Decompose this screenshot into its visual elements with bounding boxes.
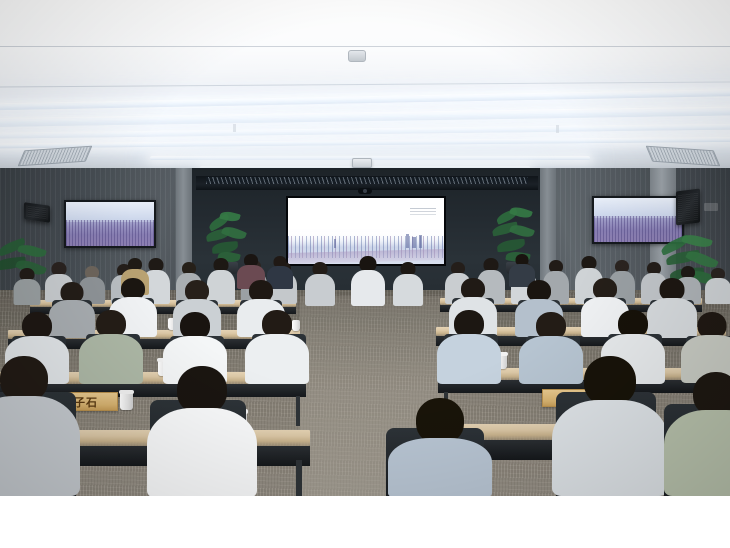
- attendee: [14, 268, 40, 304]
- desk-leg: [296, 460, 302, 496]
- conference-room-photo: 子子石 张建华: [0, 0, 730, 496]
- ceiling: [0, 0, 730, 176]
- conference-camera-icon: [358, 188, 372, 194]
- smoke-detector-icon: [348, 50, 366, 62]
- ceiling-hanger: [556, 125, 559, 133]
- skyline-tower: [419, 235, 422, 248]
- paper-cup: [120, 392, 133, 410]
- desk-leg: [296, 396, 300, 426]
- monitor-cityscape: [66, 220, 154, 246]
- attendee: [438, 310, 500, 382]
- ceiling-device-box: [352, 158, 372, 168]
- ceiling-seam: [0, 46, 730, 47]
- screenshot-root: 子子石 张建华: [0, 0, 730, 548]
- left-wall-speaker: [24, 202, 50, 223]
- right-wall-speaker: [676, 189, 700, 226]
- foreground-attendee: [668, 372, 730, 496]
- main-led-display[interactable]: [288, 198, 444, 264]
- attendee: [80, 310, 142, 382]
- skyline-tower: [406, 234, 409, 248]
- foreground-attendee: [556, 356, 664, 496]
- skyline-tower: [334, 239, 336, 248]
- foreground-attendee: [150, 366, 254, 496]
- ceiling-hanger: [233, 124, 236, 132]
- screen-watermark: [410, 206, 436, 215]
- foreground-attendee: [392, 398, 488, 496]
- front-center-attendee: [306, 262, 334, 306]
- front-center-attendee: [394, 262, 422, 306]
- left-side-monitor[interactable]: [66, 202, 154, 246]
- soffit-grille: [206, 177, 528, 184]
- attendee: [706, 268, 730, 304]
- bottom-white-margin: [0, 496, 730, 548]
- attendee: [246, 310, 308, 382]
- foreground-attendee: [0, 356, 76, 496]
- wall-sign: [704, 203, 718, 211]
- front-center-attendee: [352, 256, 384, 306]
- skyline-tower: [412, 237, 416, 248]
